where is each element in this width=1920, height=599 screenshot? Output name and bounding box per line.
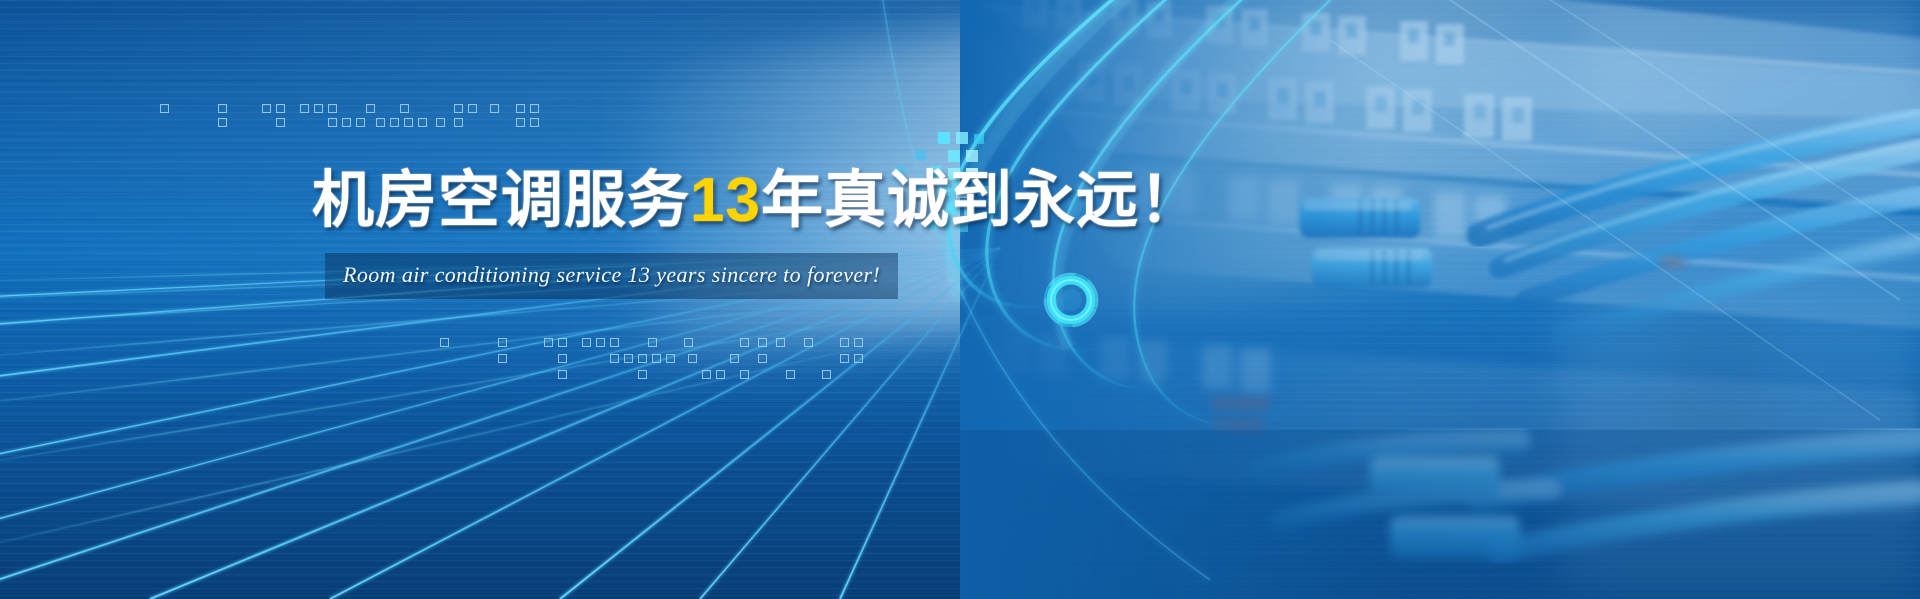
page-subtitle: Room air conditioning service 13 years s…: [343, 262, 880, 288]
glowing-target-ring-icon: [1038, 267, 1105, 334]
code-pattern-lower: [440, 332, 900, 384]
code-pattern-upper: [160, 100, 560, 130]
page-title: 机房空调服务13年真诚到永远！: [312, 168, 1202, 233]
headline-highlight-number: 13: [690, 166, 761, 235]
hero-banner: 机房空调服务13年真诚到永远！ Room air conditioning se…: [0, 0, 1920, 599]
subtitle-box: Room air conditioning service 13 years s…: [325, 253, 898, 299]
headline-prefix: 机房空调服务: [312, 166, 690, 235]
headline-suffix: 年真诚到永远！: [761, 166, 1202, 235]
perspective-grid-and-light-arcs: [0, 0, 1920, 599]
